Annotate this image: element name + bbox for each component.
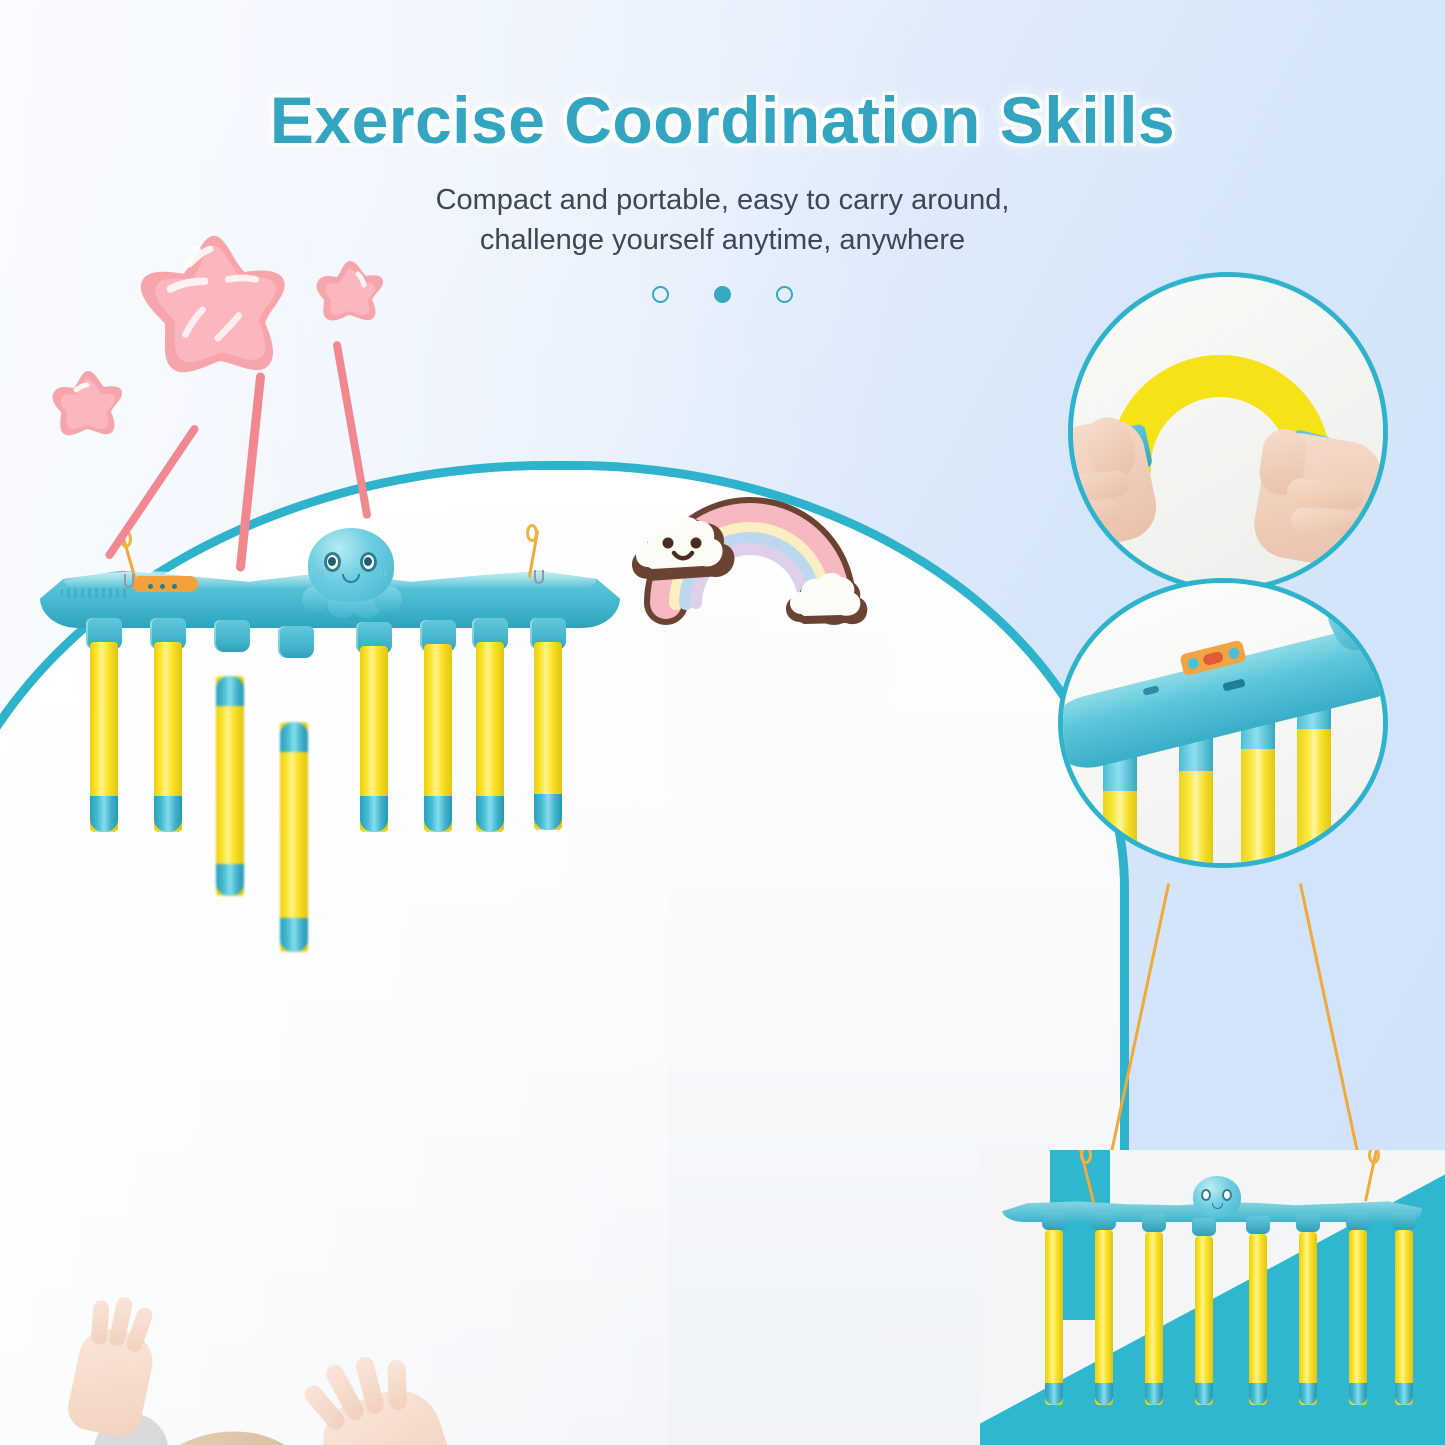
scene-socket-7 bbox=[1346, 1212, 1370, 1230]
header-block: Exercise Coordination Skills Compact and… bbox=[0, 0, 1445, 303]
button-right[interactable] bbox=[1227, 646, 1240, 659]
stick-tip bbox=[1395, 1383, 1413, 1405]
hanging-stick-7 bbox=[476, 642, 504, 832]
closeup-stick-3 bbox=[1241, 707, 1275, 868]
stick-tip bbox=[1349, 1383, 1367, 1405]
subtitle-line-1: Compact and portable, easy to carry arou… bbox=[0, 180, 1445, 220]
scene-socket-2 bbox=[1092, 1212, 1116, 1230]
stick-tip bbox=[216, 676, 244, 706]
button-center[interactable] bbox=[1202, 650, 1224, 666]
falling-stick-a bbox=[216, 676, 244, 896]
stick-tip bbox=[280, 722, 308, 752]
stick-tip bbox=[280, 918, 308, 952]
scene-octopus-face-icon bbox=[1193, 1176, 1241, 1218]
smiling-cloud-rainbow bbox=[630, 485, 880, 635]
cord-hook-right bbox=[534, 570, 544, 584]
main-product-toy bbox=[40, 500, 640, 970]
bottom-product-scene bbox=[980, 1150, 1445, 1445]
hanging-stick-5 bbox=[360, 646, 388, 832]
girl-reaching bbox=[30, 1410, 500, 1445]
hanging-stick-6 bbox=[424, 644, 452, 832]
stick-tip bbox=[424, 796, 452, 832]
hanging-stick-8 bbox=[534, 642, 562, 830]
stick-tip bbox=[476, 796, 504, 832]
carousel-dot-1[interactable] bbox=[652, 286, 669, 303]
promo-image-stage: Exercise Coordination Skills Compact and… bbox=[0, 0, 1445, 1445]
stick-tip bbox=[1249, 1383, 1267, 1405]
left-finger bbox=[1068, 500, 1121, 526]
scene-stick-4 bbox=[1195, 1236, 1213, 1405]
falling-stick-b bbox=[280, 722, 308, 952]
stick-tip bbox=[534, 794, 562, 830]
octopus-face-icon bbox=[308, 528, 394, 602]
subtitle-line-2: challenge yourself anytime, anywhere bbox=[0, 220, 1445, 260]
cord-ring-right bbox=[526, 524, 538, 542]
scene-stick-7 bbox=[1349, 1230, 1367, 1405]
inset-control-panel-closeup bbox=[1058, 578, 1388, 868]
hanging-stick-1 bbox=[90, 642, 118, 832]
stick-tip bbox=[90, 796, 118, 832]
carousel-dot-2-active[interactable] bbox=[714, 286, 731, 303]
scene-socket-4 bbox=[1192, 1218, 1216, 1236]
carousel-dots[interactable] bbox=[0, 286, 1445, 303]
stick-tip bbox=[1299, 1383, 1317, 1405]
stick-tip bbox=[1045, 1383, 1063, 1405]
octopus-blush-left bbox=[314, 570, 326, 576]
bar-speaker-holes bbox=[148, 584, 177, 589]
scene-stick-8 bbox=[1395, 1230, 1413, 1405]
hanging-stick-2 bbox=[154, 642, 182, 832]
page-subtitle: Compact and portable, easy to carry arou… bbox=[0, 180, 1445, 260]
small-pink-flower-left bbox=[52, 368, 124, 438]
scene-stick-2 bbox=[1095, 1230, 1113, 1405]
page-title: Exercise Coordination Skills bbox=[0, 82, 1445, 158]
octopus-eye-right bbox=[360, 552, 377, 572]
scene-socket-1 bbox=[1042, 1212, 1066, 1230]
stick-tip bbox=[154, 796, 182, 832]
scene-stick-3 bbox=[1145, 1232, 1163, 1405]
scene-octopus-eye-right bbox=[1222, 1189, 1232, 1201]
stick-socket-3-empty bbox=[214, 620, 250, 652]
inset-flexible-stick-demo bbox=[1068, 272, 1388, 592]
carousel-dot-3[interactable] bbox=[776, 286, 793, 303]
stick-tip bbox=[1195, 1383, 1213, 1405]
stick-tip bbox=[216, 864, 244, 896]
cord-hook-left bbox=[124, 574, 134, 588]
octopus-eye-left bbox=[324, 552, 341, 572]
scene-socket-6 bbox=[1296, 1214, 1320, 1232]
scene-octopus-eye-left bbox=[1201, 1189, 1211, 1201]
right-finger bbox=[1290, 507, 1363, 535]
scene-socket-3 bbox=[1142, 1214, 1166, 1232]
scene-stick-1 bbox=[1045, 1230, 1063, 1405]
scene-socket-5 bbox=[1246, 1216, 1270, 1234]
stick-tip bbox=[1145, 1383, 1163, 1405]
girl-finger bbox=[91, 1300, 110, 1345]
stick-socket-4-empty bbox=[278, 626, 314, 658]
bar-grip-texture bbox=[60, 588, 130, 598]
scene-stick-6 bbox=[1299, 1232, 1317, 1405]
closeup-stick-2 bbox=[1179, 729, 1213, 868]
girl-finger bbox=[387, 1360, 407, 1411]
scene-stick-5 bbox=[1249, 1234, 1267, 1405]
octopus-smile bbox=[342, 574, 360, 583]
octopus-blush-right bbox=[376, 570, 388, 576]
stick-tip bbox=[1095, 1383, 1113, 1405]
button-left[interactable] bbox=[1186, 656, 1199, 669]
stick-tip bbox=[360, 796, 388, 832]
closeup-stick-1 bbox=[1103, 749, 1137, 868]
scene-socket-8 bbox=[1392, 1212, 1416, 1230]
scene-octopus-smile bbox=[1212, 1203, 1223, 1209]
